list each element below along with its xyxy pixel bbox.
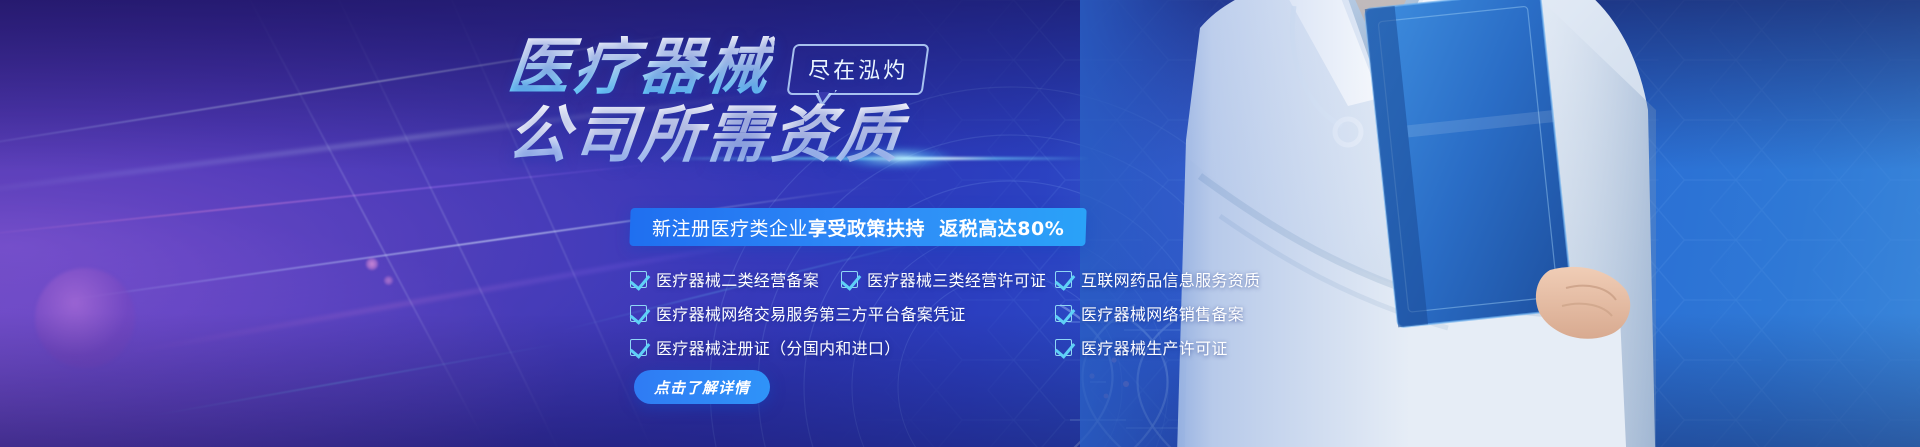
list-item: 医疗器械网络销售备案 — [1055, 302, 1385, 324]
list-item: 医疗器械三类经营许可证 — [841, 268, 1046, 290]
list-item: 医疗器械生产许可证 — [1055, 336, 1385, 358]
learn-more-button[interactable]: 点击了解详情 — [634, 370, 770, 404]
checkmark-icon — [841, 271, 858, 288]
qualification-label: 医疗器械生产许可证 — [1081, 335, 1228, 359]
brand-badge-label: 尽在泓灼 — [808, 53, 908, 85]
brand-badge: 尽在泓灼 — [786, 44, 929, 95]
subtitle-emphasis: 享受政策扶持 — [808, 218, 925, 240]
learn-more-label: 点击了解详情 — [654, 377, 750, 398]
headline-line-1: 医疗器械 — [505, 36, 776, 98]
subtitle-banner: 新注册医疗类企业享受政策扶持 返税高达80% — [629, 208, 1087, 246]
subtitle-highlight: 返税高达80% — [939, 218, 1064, 240]
qualification-column-left: 医疗器械二类经营备案 医疗器械三类经营许可证 医疗器械网络交易服务第三方平台备案… — [630, 268, 1060, 370]
list-item: 医疗器械注册证（分国内和进口） — [630, 336, 1060, 358]
qualification-label: 医疗器械网络销售备案 — [1081, 301, 1244, 325]
checkmark-icon — [1055, 305, 1072, 322]
headline-line-2: 公司所需资质 — [505, 102, 1412, 167]
banner-content: 医疗器械 尽在泓灼 公司所需资质 新注册医疗类企业享受政策扶持 返税高达80% … — [0, 0, 1920, 447]
promo-banner: 医疗器械 尽在泓灼 公司所需资质 新注册医疗类企业享受政策扶持 返税高达80% … — [0, 0, 1920, 447]
qualification-label: 医疗器械注册证（分国内和进口） — [656, 335, 901, 359]
list-item: 互联网药品信息服务资质 — [1055, 268, 1385, 290]
list-item: 医疗器械二类经营备案 — [630, 268, 819, 290]
checkmark-icon — [630, 339, 647, 356]
checkmark-icon — [630, 305, 647, 322]
qualification-label: 医疗器械三类经营许可证 — [867, 267, 1046, 291]
qualification-label: 医疗器械网络交易服务第三方平台备案凭证 — [656, 301, 966, 325]
headline-block: 医疗器械 尽在泓灼 公司所需资质 — [508, 36, 1408, 167]
list-item: 医疗器械网络交易服务第三方平台备案凭证 — [630, 302, 1060, 324]
subtitle-lead: 新注册医疗类企业 — [652, 218, 808, 240]
qualification-label: 互联网药品信息服务资质 — [1081, 267, 1260, 291]
checkmark-icon — [630, 271, 647, 288]
qualification-column-right: 互联网药品信息服务资质 医疗器械网络销售备案 医疗器械生产许可证 — [1055, 268, 1385, 370]
checkmark-icon — [1055, 339, 1072, 356]
qualification-label: 医疗器械二类经营备案 — [656, 267, 819, 291]
checkmark-icon — [1055, 271, 1072, 288]
